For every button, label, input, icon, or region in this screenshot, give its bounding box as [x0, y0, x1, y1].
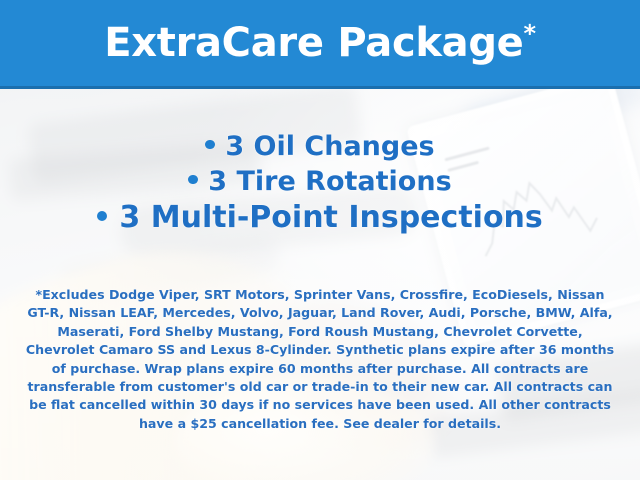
benefit-item-multi-point-inspections: 3 Multi-Point Inspections	[0, 202, 640, 234]
benefit-item-label: 3 Multi-Point Inspections	[119, 200, 542, 235]
disclaimer-text: *Excludes Dodge Viper, SRT Motors, Sprin…	[24, 286, 616, 433]
benefit-item-oil-changes: 3 Oil Changes	[0, 132, 640, 161]
benefit-item-label: 3 Tire Rotations	[208, 166, 451, 197]
extracare-package-promo-card: ExtraCare Package* 3 Oil Changes 3 Tire …	[0, 0, 640, 480]
benefit-item-tire-rotations: 3 Tire Rotations	[0, 167, 640, 196]
benefits-list: 3 Oil Changes 3 Tire Rotations 3 Multi-P…	[0, 132, 640, 235]
page-title-text: ExtraCare Package	[104, 20, 523, 66]
page-title: ExtraCare Package*	[104, 23, 536, 63]
header-banner: ExtraCare Package*	[0, 0, 640, 89]
page-title-asterisk: *	[524, 20, 536, 48]
bullet-dot-icon	[188, 175, 197, 184]
bullet-dot-icon	[97, 211, 107, 221]
benefit-item-label: 3 Oil Changes	[225, 131, 434, 162]
bullet-dot-icon	[205, 140, 214, 149]
